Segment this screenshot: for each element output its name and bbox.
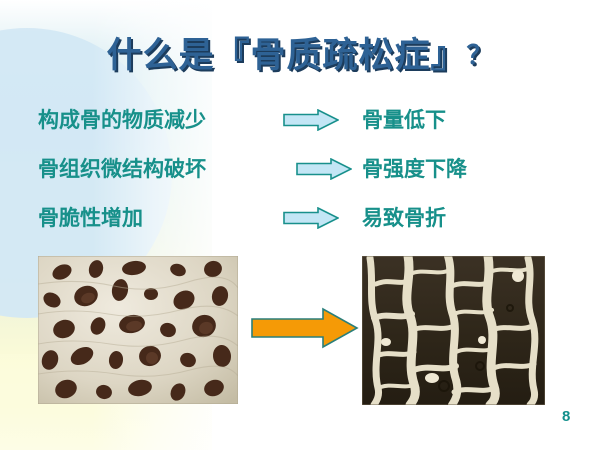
osteoporotic-bone-micrograph [362,256,545,405]
right-arrow-icon [296,158,352,180]
statement-row: 骨脆性增加 易致骨折 [0,202,600,251]
row-arrow [283,109,339,131]
slide-canvas: 什么是『骨质疏松症』？ 构成骨的物质减少 骨量低下 骨组织微结构破坏 骨强度下降… [0,0,600,450]
cause-text: 骨脆性增加 [38,202,143,232]
cause-text: 骨组织微结构破坏 [38,153,206,183]
slide-title: 什么是『骨质疏松症』？ [0,27,600,78]
big-orange-right-arrow-icon [251,306,359,350]
statement-row: 骨组织微结构破坏 骨强度下降 [0,153,600,202]
slide-title-text: 什么是『骨质疏松症』 [106,36,466,75]
statement-rows: 构成骨的物质减少 骨量低下 骨组织微结构破坏 骨强度下降 骨脆性增加 [0,104,600,251]
right-arrow-icon [283,109,339,131]
effect-text: 骨强度下降 [362,153,467,183]
right-arrow-icon [283,207,339,229]
row-arrow [283,207,339,229]
row-arrow [296,158,352,180]
effect-text: 骨量低下 [362,104,446,134]
statement-row: 构成骨的物质减少 骨量低下 [0,104,600,153]
normal-bone-micrograph [38,256,238,404]
effect-text: 易致骨折 [362,202,446,232]
cause-text: 构成骨的物质减少 [38,104,206,134]
page-number: 8 [562,408,570,425]
slide-title-question-mark: ？ [467,40,494,70]
